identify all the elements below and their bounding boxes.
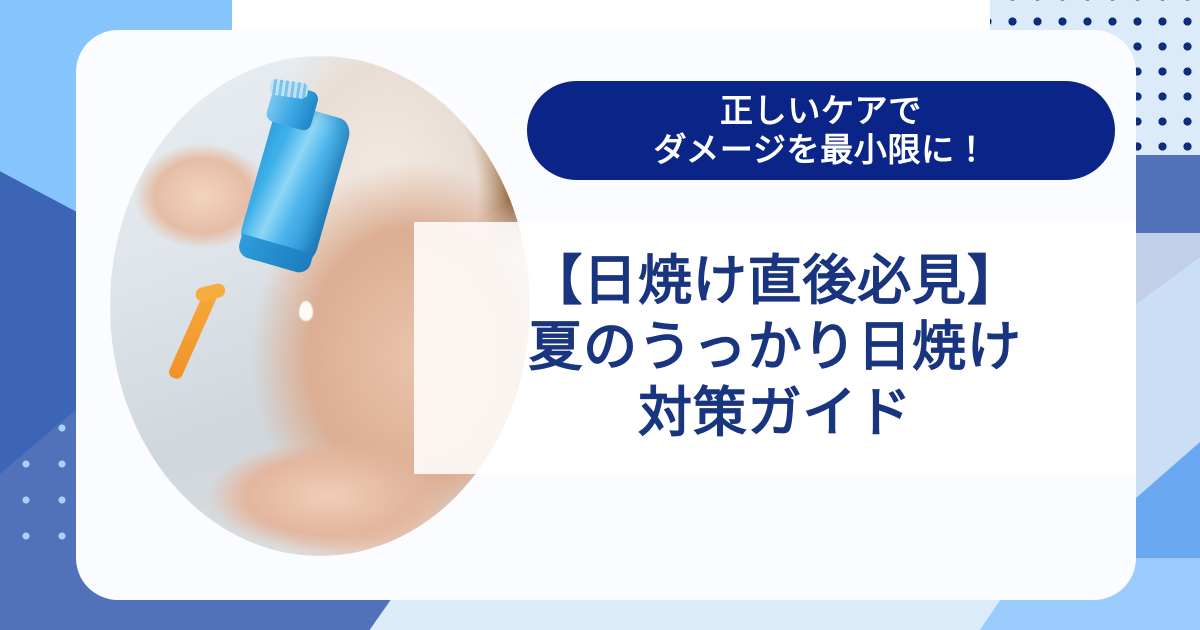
tagline-badge-text: 正しいケアで ダメージを最小限に！	[654, 92, 989, 169]
eyecatch-banner: 正しいケアで ダメージを最小限に！ 【日焼け直後必見】 夏のうっかり日焼け 対策…	[0, 0, 1200, 630]
page-title: 【日焼け直後必見】 夏のうっかり日焼け 対策ガイド	[528, 249, 1021, 447]
tagline-badge: 正しいケアで ダメージを最小限に！	[527, 81, 1115, 180]
lotion-drip-icon	[299, 301, 313, 321]
title-panel: 【日焼け直後必見】 夏のうっかり日焼け 対策ガイド	[414, 222, 1136, 474]
